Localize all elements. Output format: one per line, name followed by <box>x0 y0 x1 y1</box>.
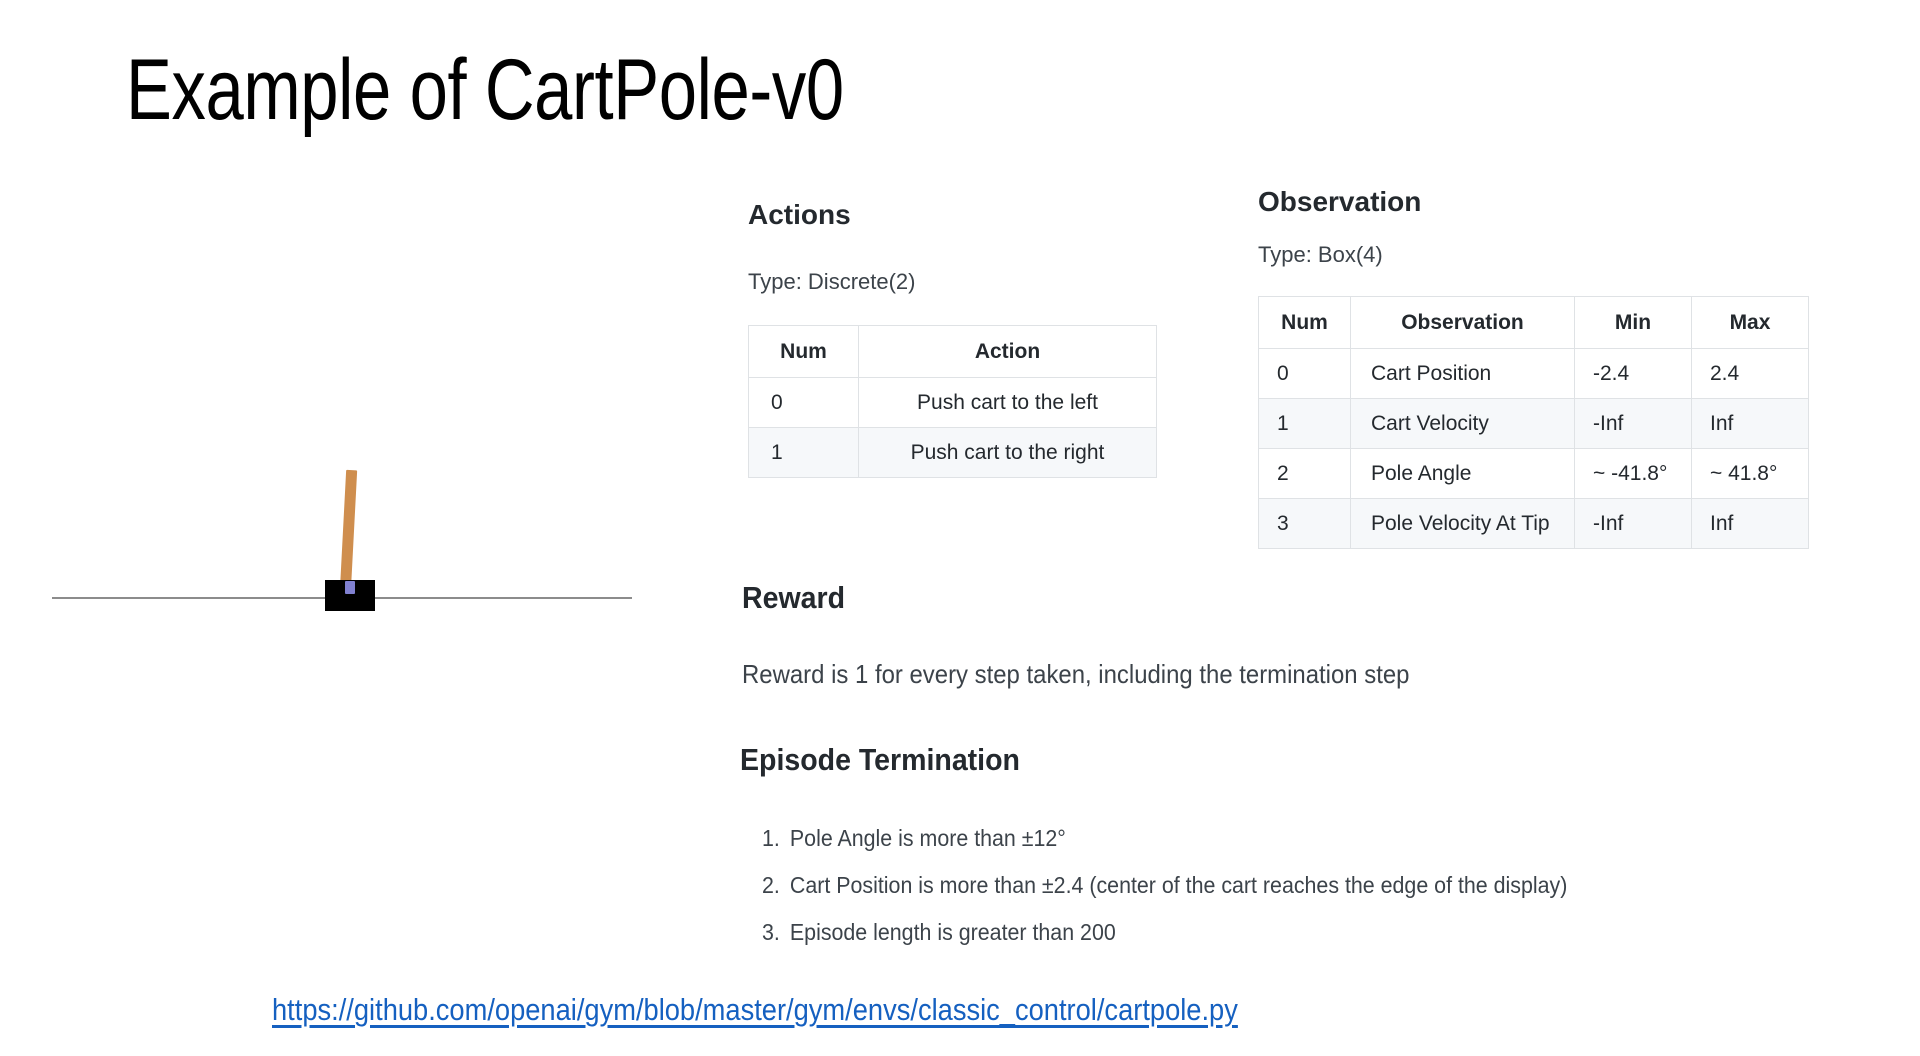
source-url-link[interactable]: https://github.com/openai/gym/blob/maste… <box>272 990 1238 1030</box>
observation-cell-max: Inf <box>1692 399 1809 449</box>
observation-cell-min: -Inf <box>1575 399 1692 449</box>
table-row: 1 Cart Velocity -Inf Inf <box>1259 399 1809 449</box>
list-item: 1.Pole Angle is more than ±12° <box>762 815 1567 862</box>
observation-heading: Observation <box>1258 185 1421 219</box>
observation-cell-name: Pole Velocity At Tip <box>1351 499 1575 549</box>
observation-cell-min: -2.4 <box>1575 349 1692 399</box>
observation-col-min: Min <box>1575 297 1692 349</box>
observation-cell-min: ~ -41.8° <box>1575 449 1692 499</box>
reward-text: Reward is 1 for every step taken, includ… <box>742 660 1409 688</box>
list-item-text: Episode length is greater than 200 <box>790 919 1116 945</box>
episode-termination-heading: Episode Termination <box>740 743 1020 777</box>
table-row: 1 Push cart to the right <box>749 428 1157 478</box>
actions-col-num: Num <box>749 326 859 378</box>
table-row: 3 Pole Velocity At Tip -Inf Inf <box>1259 499 1809 549</box>
episode-termination-list: 1.Pole Angle is more than ±12° 2.Cart Po… <box>762 815 1628 956</box>
observation-col-num: Num <box>1259 297 1351 349</box>
table-row: 0 Cart Position -2.4 2.4 <box>1259 349 1809 399</box>
observation-col-observation: Observation <box>1351 297 1575 349</box>
observation-cell-name: Cart Velocity <box>1351 399 1575 449</box>
observation-type-line: Type: Box(4) <box>1258 241 1383 269</box>
list-item: 3.Episode length is greater than 200 <box>762 909 1567 956</box>
actions-cell-action: Push cart to the right <box>859 428 1157 478</box>
list-marker: 1. <box>762 815 790 862</box>
list-marker: 3. <box>762 909 790 956</box>
actions-cell-num: 0 <box>749 378 859 428</box>
observation-cell-name: Pole Angle <box>1351 449 1575 499</box>
observation-cell-min: -Inf <box>1575 499 1692 549</box>
observation-cell-num: 3 <box>1259 499 1351 549</box>
actions-type-line: Type: Discrete(2) <box>748 268 916 296</box>
table-row: 0 Push cart to the left <box>749 378 1157 428</box>
actions-cell-action: Push cart to the left <box>859 378 1157 428</box>
gym-documentation-screenshot: Actions Type: Discrete(2) Num Action 0 P… <box>0 0 1920 1056</box>
table-row: 2 Pole Angle ~ -41.8° ~ 41.8° <box>1259 449 1809 499</box>
observation-cell-max: 2.4 <box>1692 349 1809 399</box>
list-item: 2.Cart Position is more than ±2.4 (cente… <box>762 862 1567 909</box>
actions-table: Num Action 0 Push cart to the left 1 Pus… <box>748 325 1157 478</box>
table-header-row: Num Action <box>749 326 1157 378</box>
actions-col-action: Action <box>859 326 1157 378</box>
actions-heading: Actions <box>748 198 851 232</box>
observation-cell-num: 1 <box>1259 399 1351 449</box>
observation-cell-max: Inf <box>1692 499 1809 549</box>
table-header-row: Num Observation Min Max <box>1259 297 1809 349</box>
observation-cell-num: 0 <box>1259 349 1351 399</box>
observation-cell-num: 2 <box>1259 449 1351 499</box>
list-item-text: Cart Position is more than ±2.4 (center … <box>790 872 1567 898</box>
actions-cell-num: 1 <box>749 428 859 478</box>
observation-cell-name: Cart Position <box>1351 349 1575 399</box>
observation-table: Num Observation Min Max 0 Cart Position … <box>1258 296 1809 549</box>
list-item-text: Pole Angle is more than ±12° <box>790 825 1066 851</box>
observation-cell-max: ~ 41.8° <box>1692 449 1809 499</box>
observation-col-max: Max <box>1692 297 1809 349</box>
list-marker: 2. <box>762 862 790 909</box>
reward-heading: Reward <box>742 581 845 615</box>
